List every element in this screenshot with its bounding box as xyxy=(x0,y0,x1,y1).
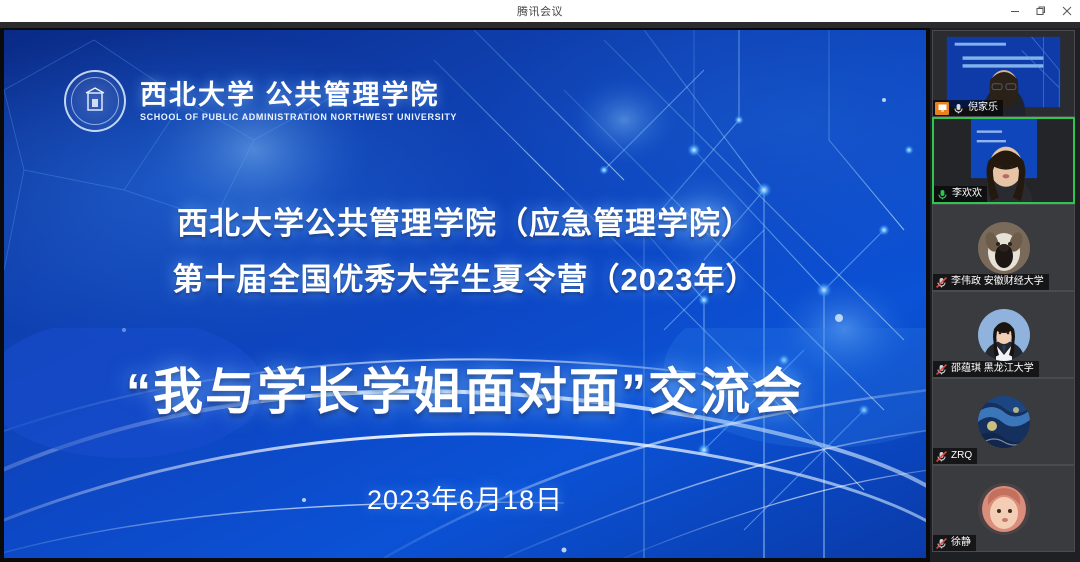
microphone-muted-icon xyxy=(935,450,948,463)
participant-tile[interactable]: 李伟政 安徽财经大学 xyxy=(932,204,1075,291)
close-button[interactable] xyxy=(1054,0,1080,22)
window-title: 腾讯会议 xyxy=(517,3,563,19)
shared-screen-stage[interactable]: 西北大学 公共管理学院 SCHOOL OF PUBLIC ADMINISTRAT… xyxy=(0,28,930,562)
participant-name: 徐静 xyxy=(951,538,971,548)
title-bar: 腾讯会议 xyxy=(0,0,1080,22)
slide-title-line-2: 第十届全国优秀大学生夏令营（2023年） xyxy=(4,254,926,299)
seal-inner-glyph xyxy=(80,86,110,116)
participant-label: ZRQ xyxy=(933,448,977,464)
participant-sidebar[interactable]: 倪家乐 xyxy=(930,28,1080,562)
university-name-en: SCHOOL OF PUBLIC ADMINISTRATION NORTHWES… xyxy=(140,112,457,122)
microphone-muted-icon xyxy=(935,363,948,376)
participant-name: 李伟政 安徽财经大学 xyxy=(951,277,1044,287)
participant-tile[interactable]: 李欢欢 xyxy=(932,117,1075,204)
participant-label: 李欢欢 xyxy=(934,186,987,202)
minimize-button[interactable] xyxy=(1002,0,1028,22)
university-logo-lockup: 西北大学 公共管理学院 SCHOOL OF PUBLIC ADMINISTRAT… xyxy=(64,70,457,132)
participant-label: 李伟政 安徽财经大学 xyxy=(933,274,1049,290)
microphone-muted-icon xyxy=(935,276,948,289)
screen-share-icon xyxy=(935,102,949,115)
participant-tile[interactable]: ZRQ xyxy=(932,378,1075,465)
slide-title-line-1: 西北大学公共管理学院（应急管理学院） xyxy=(4,198,926,243)
avatar xyxy=(978,483,1030,535)
participant-label: 邵蕴琪 黑龙江大学 xyxy=(933,361,1039,377)
participant-label: 徐静 xyxy=(933,535,976,551)
slide-main-title: “我与学长学姐面对面”交流会 xyxy=(4,352,926,424)
participant-name: ZRQ xyxy=(951,451,972,461)
participant-tile[interactable]: 倪家乐 xyxy=(932,30,1075,117)
university-seal-icon xyxy=(64,70,126,132)
slide-date: 2023年6月18日 xyxy=(4,478,926,517)
microphone-icon xyxy=(952,102,965,115)
avatar xyxy=(978,222,1030,274)
participant-name: 李欢欢 xyxy=(952,189,982,199)
participant-tile[interactable]: 徐静 xyxy=(932,465,1075,552)
microphone-icon xyxy=(936,188,949,201)
presentation-slide: 西北大学 公共管理学院 SCHOOL OF PUBLIC ADMINISTRAT… xyxy=(4,30,926,558)
tencent-meeting-window: 腾讯会议 xyxy=(0,0,1080,562)
participant-tile[interactable]: 邵蕴琪 黑龙江大学 xyxy=(932,291,1075,378)
university-name-cn: 西北大学 公共管理学院 xyxy=(140,80,457,110)
participant-name: 邵蕴琪 黑龙江大学 xyxy=(951,364,1034,374)
microphone-muted-icon xyxy=(935,537,948,550)
window-controls xyxy=(1002,0,1080,22)
participant-name: 倪家乐 xyxy=(968,103,998,113)
avatar xyxy=(978,396,1030,448)
maximize-button[interactable] xyxy=(1028,0,1054,22)
participant-label: 倪家乐 xyxy=(933,100,1003,116)
avatar xyxy=(978,309,1030,361)
